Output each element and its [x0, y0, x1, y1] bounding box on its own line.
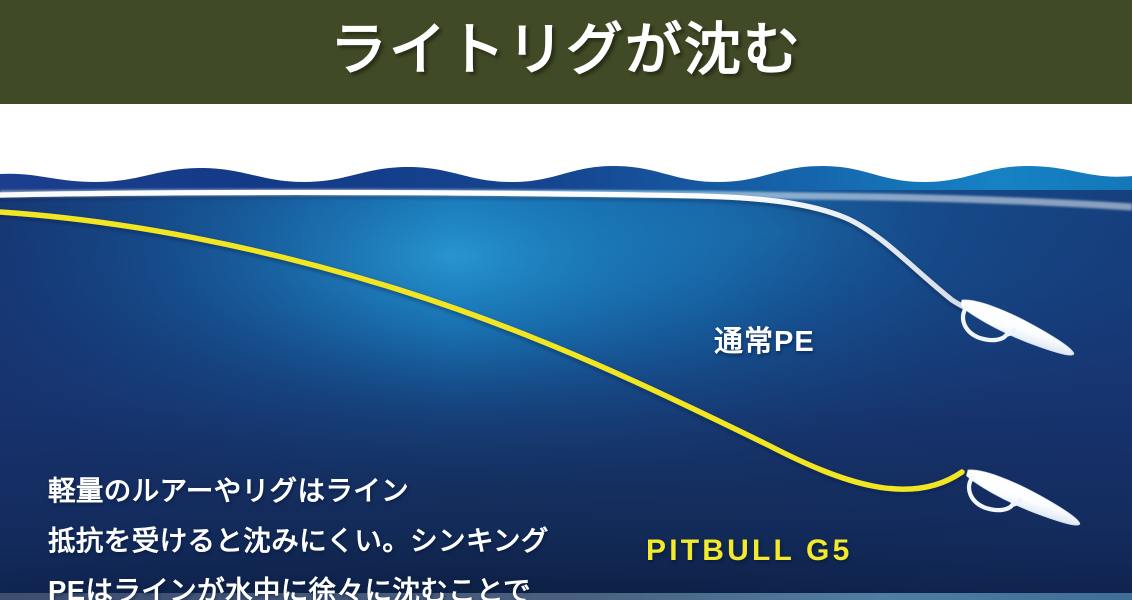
page-title: ライトリグが沈む — [0, 0, 1132, 104]
body-copy: 軽量のルアーやリグはライン 抵抗を受けると沈みにくい。シンキング PEはラインが… — [48, 466, 549, 600]
promo-graphic: ライトリグが沈む — [0, 0, 1132, 600]
label-normal-pe: 通常PE — [714, 328, 815, 357]
label-pitbull-g5: PITBULL G5 — [646, 536, 852, 566]
header-bar: ライトリグが沈む — [0, 0, 1132, 104]
underwater-illustration: 通常PE PITBULL G5 軽量のルアーやリグはライン 抵抗を受けると沈みに… — [0, 104, 1132, 600]
body-copy-line-3: PEはラインが水中に徐々に沈むことで — [48, 566, 549, 600]
body-copy-line-2: 抵抗を受けると沈みにくい。シンキング — [48, 516, 549, 566]
body-copy-line-1: 軽量のルアーやリグはライン — [48, 466, 549, 516]
